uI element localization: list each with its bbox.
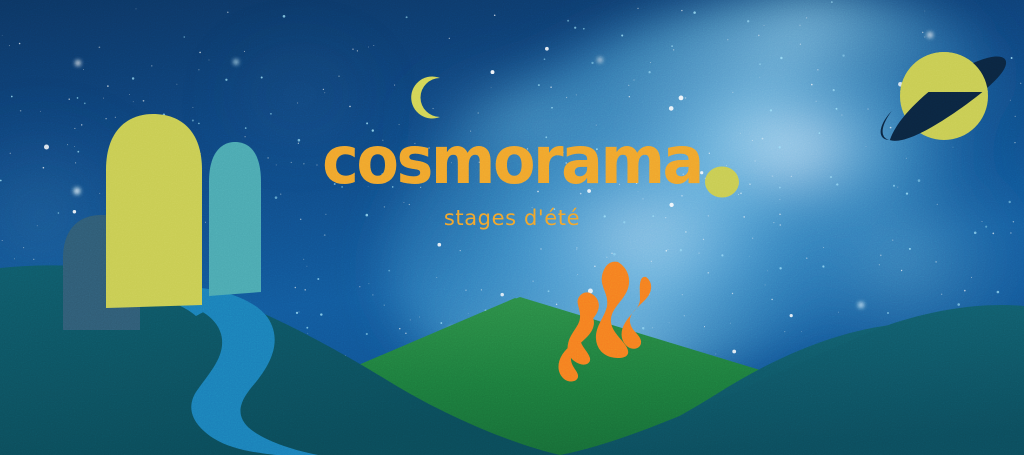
standing-stone-chartreuse [106, 114, 202, 308]
landscape-layer [0, 0, 1024, 455]
standing-stone-teal [209, 142, 261, 296]
poster-canvas: cosmorama stages d'été [0, 0, 1024, 455]
